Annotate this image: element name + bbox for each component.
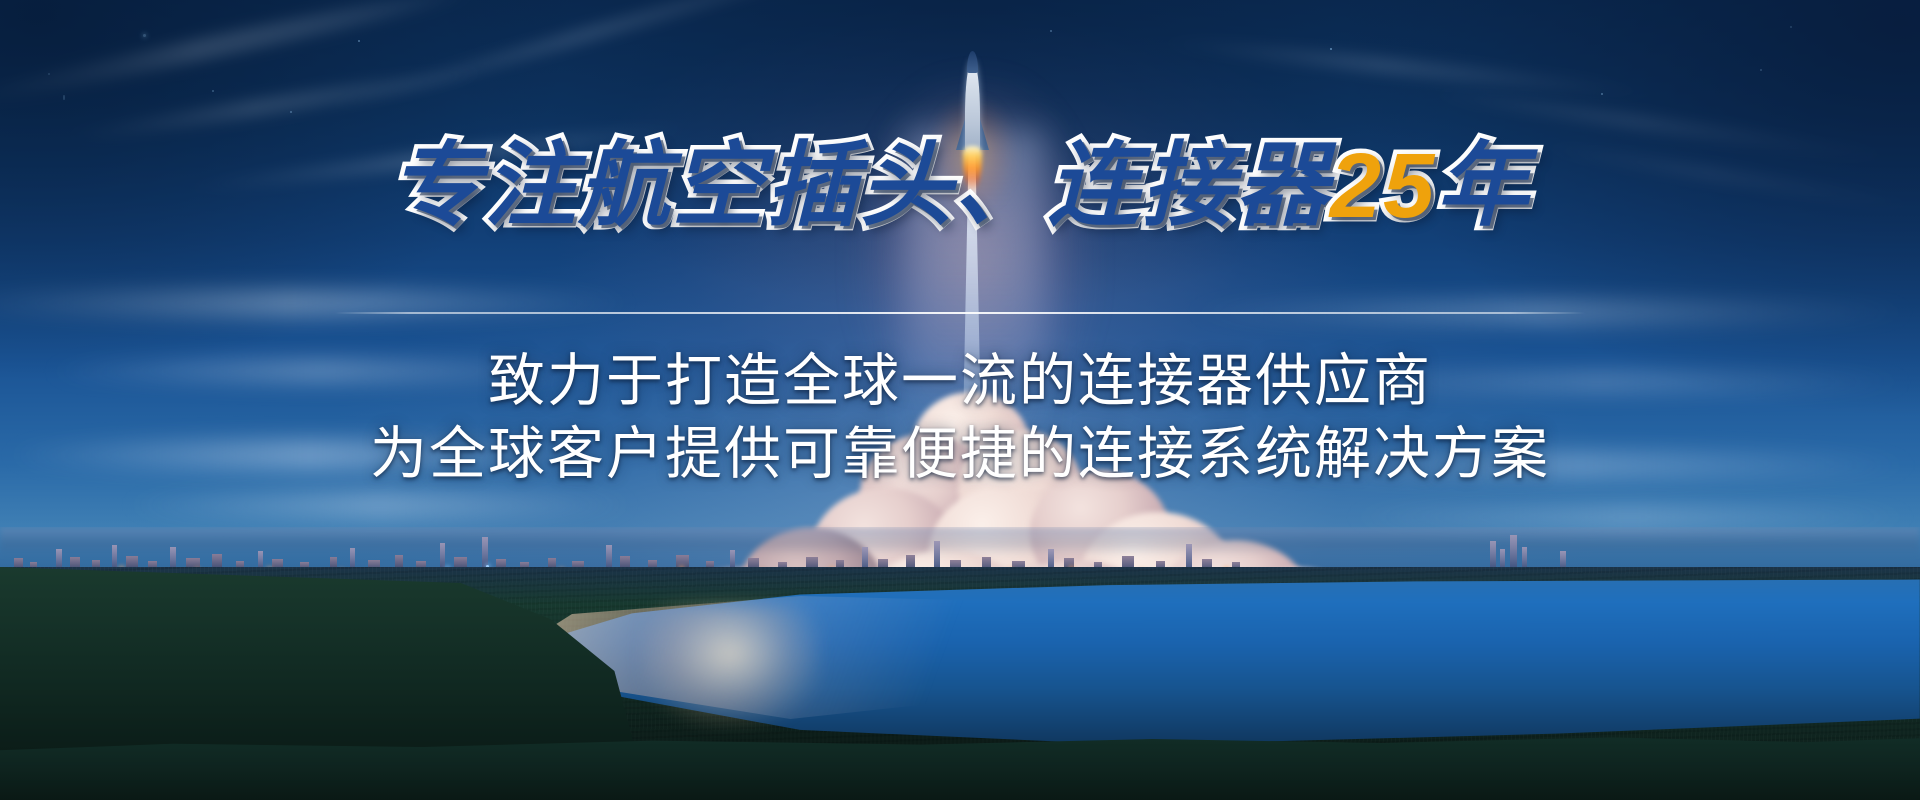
- subtitle: 致力于打造全球一流的连接器供应商 为全球客户提供可靠便捷的连接系统解决方案: [0, 345, 1920, 491]
- hero-banner: 专注航空插头、连接器25年 致力于打造全球一流的连接器供应商 为全球客户提供可靠…: [0, 0, 1920, 800]
- subtitle-line-1: 致力于打造全球一流的连接器供应商: [0, 345, 1920, 418]
- divider: [335, 312, 1585, 314]
- subtitle-line-2: 为全球客户提供可靠便捷的连接系统解决方案: [0, 418, 1920, 491]
- headline-segment-3: 年: [1436, 138, 1530, 235]
- banner-content: 专注航空插头、连接器25年 致力于打造全球一流的连接器供应商 为全球客户提供可靠…: [0, 0, 1920, 800]
- headline: 专注航空插头、连接器25年: [0, 138, 1920, 235]
- headline-years: 25: [1330, 138, 1436, 235]
- headline-segment-1: 专注航空插头、连接器: [390, 138, 1330, 235]
